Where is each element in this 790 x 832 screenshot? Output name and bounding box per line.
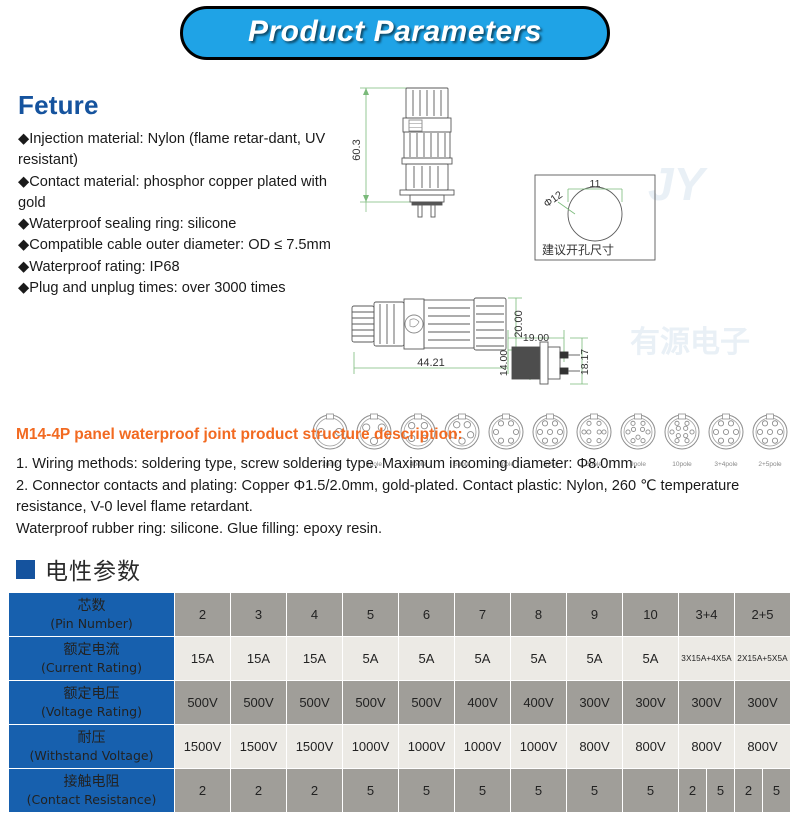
row-header-en: (Current Rating) — [10, 660, 173, 676]
table-cell: 5 — [455, 769, 510, 812]
feature-item: ◆Waterproof sealing ring: silicone — [18, 214, 340, 235]
row-header: 耐压(Withstand Voltage) — [9, 725, 174, 768]
row-header-zh: 耐压 — [10, 730, 173, 748]
feature-item: ◆Plug and unplug times: over 3000 times — [18, 278, 340, 299]
table-cell: 5 — [511, 769, 566, 812]
table-cell: 800V — [679, 725, 734, 768]
table-cell: 2X15A+5X5A — [735, 637, 790, 680]
feature-item: ◆Contact material: phosphor copper plate… — [18, 172, 340, 215]
row-header: 芯数(Pin Number) — [9, 593, 174, 636]
feature-text: Contact material: phosphor copper plated… — [18, 174, 327, 211]
electrical-parameters-table: 芯数(Pin Number)23456789103+42+5额定电流(Curre… — [8, 592, 790, 813]
table-cell: 400V — [511, 681, 566, 724]
table-cell: 2 — [231, 769, 286, 812]
table-cell: 6 — [399, 593, 454, 636]
table-cell: 15A — [175, 637, 230, 680]
table-cell: 5 — [343, 593, 398, 636]
table-cell: 2 — [679, 769, 706, 812]
row-header-en: (Voltage Rating) — [10, 704, 173, 720]
features-block: Feture ◆Injection material: Nylon (flame… — [18, 90, 340, 299]
description-line: 2. Connector contacts and plating: Coppe… — [16, 476, 774, 519]
table-cell: 300V — [735, 681, 790, 724]
row-header: 额定电压(Voltage Rating) — [9, 681, 174, 724]
table-cell: 300V — [567, 681, 622, 724]
table-cell: 500V — [175, 681, 230, 724]
table-cell: 5 — [399, 769, 454, 812]
table-cell: 5A — [343, 637, 398, 680]
table-cell: 1000V — [511, 725, 566, 768]
feature-text: Plug and unplug times: over 3000 times — [29, 280, 285, 296]
table-row: 耐压(Withstand Voltage)1500V1500V1500V1000… — [9, 725, 790, 768]
electrical-section-title: 电性参数 — [45, 552, 141, 586]
table-cell: 1500V — [175, 725, 230, 768]
table-cell: 800V — [735, 725, 790, 768]
electrical-section-header: 电性参数 — [0, 544, 790, 592]
table-cell: 5 — [343, 769, 398, 812]
bullet-icon: ◆ — [18, 216, 29, 232]
dim-panel-body: 14.00 — [498, 350, 510, 376]
table-row: 额定电压(Voltage Rating)500V500V500V500V500V… — [9, 681, 790, 724]
table-cell: 1000V — [455, 725, 510, 768]
table-cell: 2 — [287, 769, 342, 812]
table-cell: 4 — [287, 593, 342, 636]
upper-section: Feture ◆Injection material: Nylon (flame… — [0, 62, 790, 414]
table-cell: 1500V — [287, 725, 342, 768]
feature-text: Waterproof rating: IP68 — [29, 259, 179, 275]
page-title-pill: Product Parameters — [180, 6, 610, 60]
page-header: Product Parameters — [0, 0, 790, 62]
table-cell: 2 — [175, 769, 230, 812]
electrical-table-wrap: 芯数(Pin Number)23456789103+42+5额定电流(Curre… — [0, 592, 790, 813]
table-cell: 9 — [567, 593, 622, 636]
table-cell: 3X15A+4X5A — [679, 637, 734, 680]
row-header-zh: 额定电压 — [10, 686, 173, 704]
table-row: 接触电阻(Contact Resistance)2225555552525 — [9, 769, 790, 812]
row-header-zh: 芯数 — [10, 598, 173, 616]
feature-text: Compatible cable outer diameter: OD ≤ 7.… — [29, 237, 331, 253]
table-cell-split: 25 — [735, 769, 790, 812]
table-cell: 5A — [455, 637, 510, 680]
bullet-icon: ◆ — [18, 131, 29, 147]
feature-text: Injection material: Nylon (flame retar-d… — [18, 131, 325, 168]
technical-drawings: JY 有源电子 — [330, 62, 790, 414]
table-cell: 5A — [399, 637, 454, 680]
table-cell: 5A — [567, 637, 622, 680]
row-header-zh: 额定电流 — [10, 642, 173, 660]
table-cell: 1500V — [231, 725, 286, 768]
dim-plug-height: 60.3 — [351, 139, 363, 160]
table-body: 芯数(Pin Number)23456789103+42+5额定电流(Curre… — [9, 593, 790, 812]
table-cell: 5A — [623, 637, 678, 680]
description-title: M14-4P panel waterproof joint product st… — [16, 426, 774, 444]
table-cell: 1000V — [399, 725, 454, 768]
dim-panel-width: 19.00 — [523, 332, 549, 344]
row-header: 接触电阻(Contact Resistance) — [9, 769, 174, 812]
table-cell: 2 — [175, 593, 230, 636]
row-header-en: (Withstand Voltage) — [10, 748, 173, 764]
row-header-en: (Pin Number) — [10, 616, 173, 632]
table-cell: 15A — [231, 637, 286, 680]
table-cell: 500V — [399, 681, 454, 724]
table-cell: 5 — [707, 769, 734, 812]
table-cell: 5A — [511, 637, 566, 680]
table-cell: 5 — [623, 769, 678, 812]
row-header: 额定电流(Current Rating) — [9, 637, 174, 680]
table-cell: 3 — [231, 593, 286, 636]
bullet-icon: ◆ — [18, 280, 29, 296]
table-row: 额定电流(Current Rating)15A15A15A5A5A5A5A5A5… — [9, 637, 790, 680]
description-line: Waterproof rubber ring: silicone. Glue f… — [16, 519, 774, 541]
table-cell: 15A — [287, 637, 342, 680]
table-cell: 800V — [567, 725, 622, 768]
table-cell: 400V — [455, 681, 510, 724]
table-cell: 5 — [763, 769, 790, 812]
features-heading: Feture — [18, 90, 340, 121]
bullet-icon: ◆ — [18, 237, 29, 253]
dim-panel-pin: 18.17 — [579, 349, 591, 375]
dim-cutout-diameter: Φ12 — [542, 189, 565, 210]
table-cell: 7 — [455, 593, 510, 636]
feature-item: ◆Compatible cable outer diameter: OD ≤ 7… — [18, 235, 340, 256]
table-cell: 2+5 — [735, 593, 790, 636]
table-cell: 300V — [679, 681, 734, 724]
table-cell: 2 — [735, 769, 762, 812]
table-cell: 500V — [343, 681, 398, 724]
table-cell: 500V — [231, 681, 286, 724]
structure-description: M14-4P panel waterproof joint product st… — [0, 414, 790, 544]
table-cell: 500V — [287, 681, 342, 724]
feature-item: ◆Waterproof rating: IP68 — [18, 257, 340, 278]
table-cell: 300V — [623, 681, 678, 724]
table-cell: 1000V — [343, 725, 398, 768]
dim-cutout-width: 11 — [590, 178, 601, 190]
bullet-icon: ◆ — [18, 259, 29, 275]
table-cell: 5 — [567, 769, 622, 812]
table-cell: 800V — [623, 725, 678, 768]
dim-plug-length: 44.21 — [417, 357, 445, 369]
drawings-svg: 60.3 44.21 20.00 19.00 14.00 18.17 11 Φ1… — [330, 62, 790, 414]
feature-text: Waterproof sealing ring: silicone — [29, 216, 236, 232]
table-cell: 3+4 — [679, 593, 734, 636]
description-line: 1. Wiring methods: soldering type, screw… — [16, 454, 774, 476]
table-row: 芯数(Pin Number)23456789103+42+5 — [9, 593, 790, 636]
row-header-zh: 接触电阻 — [10, 774, 173, 792]
page-title: Product Parameters — [231, 15, 559, 48]
table-cell-split: 25 — [679, 769, 734, 812]
table-cell: 8 — [511, 593, 566, 636]
square-bullet-icon — [16, 560, 35, 579]
table-cell: 10 — [623, 593, 678, 636]
feature-item: ◆Injection material: Nylon (flame retar-… — [18, 129, 340, 172]
bullet-icon: ◆ — [18, 174, 29, 190]
row-header-en: (Contact Resistance) — [10, 792, 173, 808]
cutout-caption: 建议开孔尺寸 — [542, 243, 614, 257]
